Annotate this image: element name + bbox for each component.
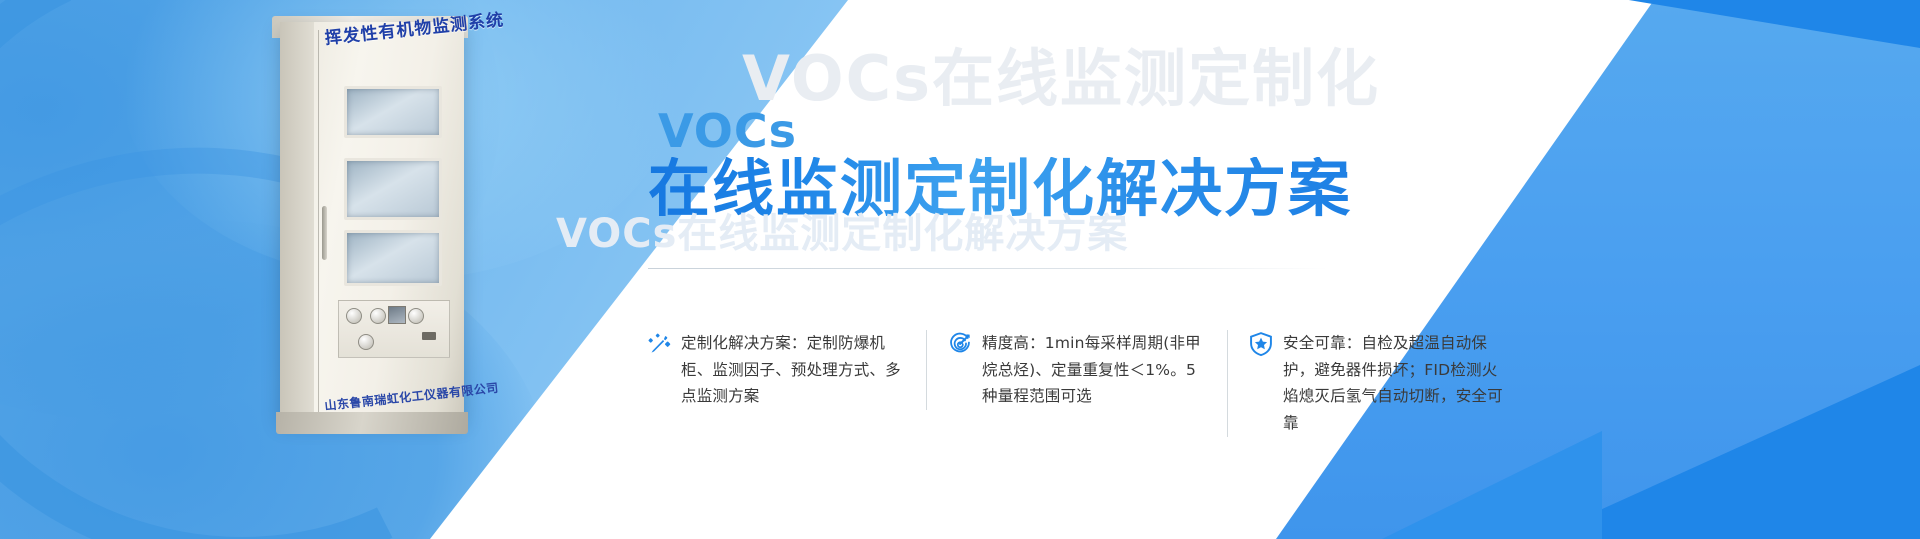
cabinet-knob-1 bbox=[346, 308, 362, 324]
product-photo-voc-cabinet: 挥发性有机物监测系统 山东鲁南瑞虹化工仪器有限公司 bbox=[258, 8, 488, 432]
section-divider-rule bbox=[648, 268, 1328, 269]
watermark-text-bottom: VOCs在线监测定制化解决方案 bbox=[556, 214, 1128, 254]
feature-item-precision: 精度高：1min每采样周期(非甲烷总烃)、定量重复性＜1%。5种量程范围可选 bbox=[926, 330, 1227, 410]
feature-item-safety: 安全可靠：自检及超温自动保护，避免器件损坏；FID检测火焰熄灭后氢气自动切断，安… bbox=[1227, 330, 1528, 437]
cabinet-door-seam bbox=[318, 30, 319, 412]
target-arrow-icon bbox=[947, 331, 973, 357]
cabinet-side-panel bbox=[280, 22, 314, 420]
cabinet-display-middle bbox=[344, 158, 442, 220]
shield-star-icon bbox=[1248, 331, 1274, 357]
feature-text-precision: 精度高：1min每采样周期(非甲烷总烃)、定量重复性＜1%。5种量程范围可选 bbox=[982, 330, 1209, 410]
cabinet-knob-2 bbox=[370, 308, 386, 324]
feature-text-customization: 定制化解决方案：定制防爆机柜、监测因子、预处理方式、多点监测方案 bbox=[681, 330, 908, 410]
cabinet-knob-4 bbox=[358, 334, 374, 350]
cabinet-display-lower bbox=[344, 230, 442, 286]
cabinet-indicator-led bbox=[422, 332, 436, 340]
pen-settings-icon bbox=[646, 331, 672, 357]
feature-item-customization: 定制化解决方案：定制防爆机柜、监测因子、预处理方式、多点监测方案 bbox=[646, 330, 926, 410]
cabinet-knob-3 bbox=[408, 308, 424, 324]
watermark-text-top: VOCs在线监测定制化 bbox=[742, 48, 1380, 110]
feature-list: 定制化解决方案：定制防爆机柜、监测因子、预处理方式、多点监测方案 精度高：1mi… bbox=[646, 330, 1528, 437]
feature-text-safety: 安全可靠：自检及超温自动保护，避免器件损坏；FID检测火焰熄灭后氢气自动切断，安… bbox=[1283, 330, 1510, 437]
cabinet-gauge bbox=[388, 306, 406, 324]
cabinet-base bbox=[276, 412, 468, 434]
cabinet-display-upper bbox=[344, 86, 442, 138]
headline-block: VOCs 在线监测定制化解决方案 bbox=[648, 108, 1352, 222]
cabinet-door-handle bbox=[322, 206, 327, 260]
vocs-product-banner: 挥发性有机物监测系统 山东鲁南瑞虹化工仪器有限公司 VOCs在线监测定制化 VO… bbox=[0, 0, 1920, 539]
headline-english: VOCs bbox=[658, 108, 1352, 155]
